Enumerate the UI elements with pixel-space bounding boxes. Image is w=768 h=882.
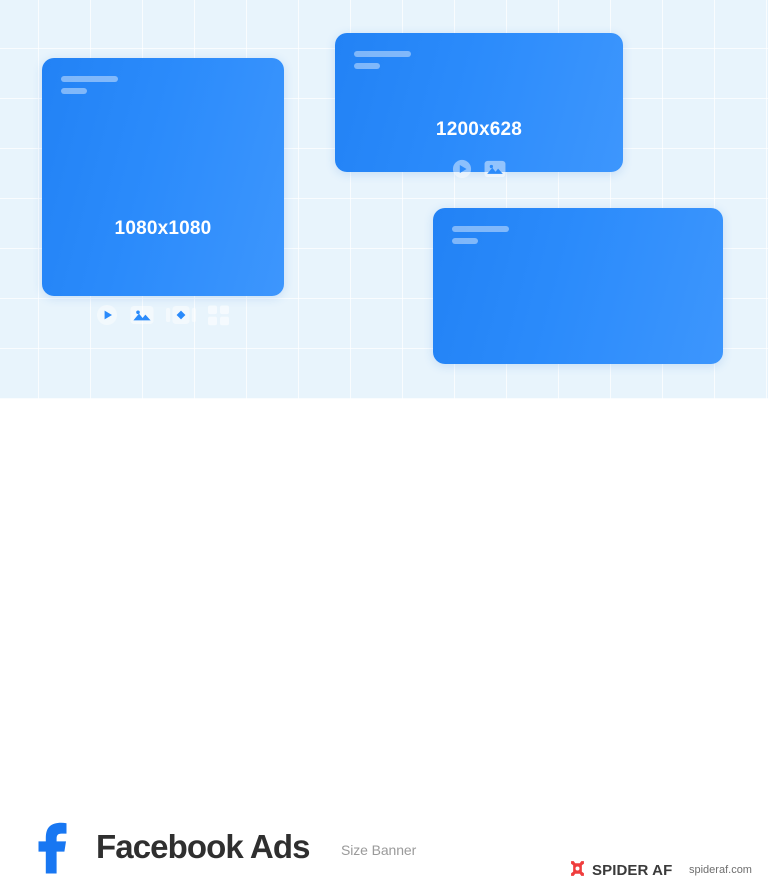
grid-icon[interactable]	[208, 304, 230, 326]
card-format-icons	[42, 304, 284, 326]
vendor-brand[interactable]: SPIDER AF	[569, 860, 672, 882]
vendor-url: spideraf.com	[689, 863, 752, 877]
carousel-icon[interactable]	[166, 304, 196, 326]
placeholder-bar-short	[61, 88, 87, 94]
placeholder-bar-short	[354, 63, 380, 69]
placeholder-bar-short	[452, 238, 478, 244]
ad-size-card-1280x720[interactable]: 1280x720	[433, 208, 723, 364]
grid-canvas: 1080x1080	[0, 0, 768, 399]
vendor-name: SPIDER AF	[592, 862, 672, 880]
spider-af-icon	[569, 860, 586, 882]
facebook-f-icon	[33, 822, 75, 874]
card-size-label: 1080x1080	[42, 218, 284, 240]
placeholder-bar-long	[61, 76, 118, 82]
ad-size-card-1200x628[interactable]: 1200x628	[335, 33, 623, 172]
placeholder-bar-long	[452, 226, 509, 232]
placeholder-bar-long	[354, 51, 411, 57]
image-icon[interactable]	[484, 159, 506, 179]
page-subtitle: Size Banner	[341, 841, 416, 859]
page-root: 1080x1080	[0, 0, 768, 498]
card-placeholder-lines	[61, 76, 118, 94]
play-icon[interactable]	[96, 304, 118, 326]
footer-band: Facebook Ads Size Banner SPIDER AF spide…	[0, 399, 768, 498]
ad-size-card-1080x1080[interactable]: 1080x1080	[42, 58, 284, 296]
card-placeholder-lines	[452, 226, 509, 244]
play-icon[interactable]	[452, 159, 472, 179]
card-placeholder-lines	[354, 51, 411, 69]
card-size-label: 1200x628	[335, 119, 623, 141]
image-icon[interactable]	[130, 304, 154, 326]
page-title: Facebook Ads	[96, 827, 310, 867]
card-format-icons	[335, 159, 623, 179]
